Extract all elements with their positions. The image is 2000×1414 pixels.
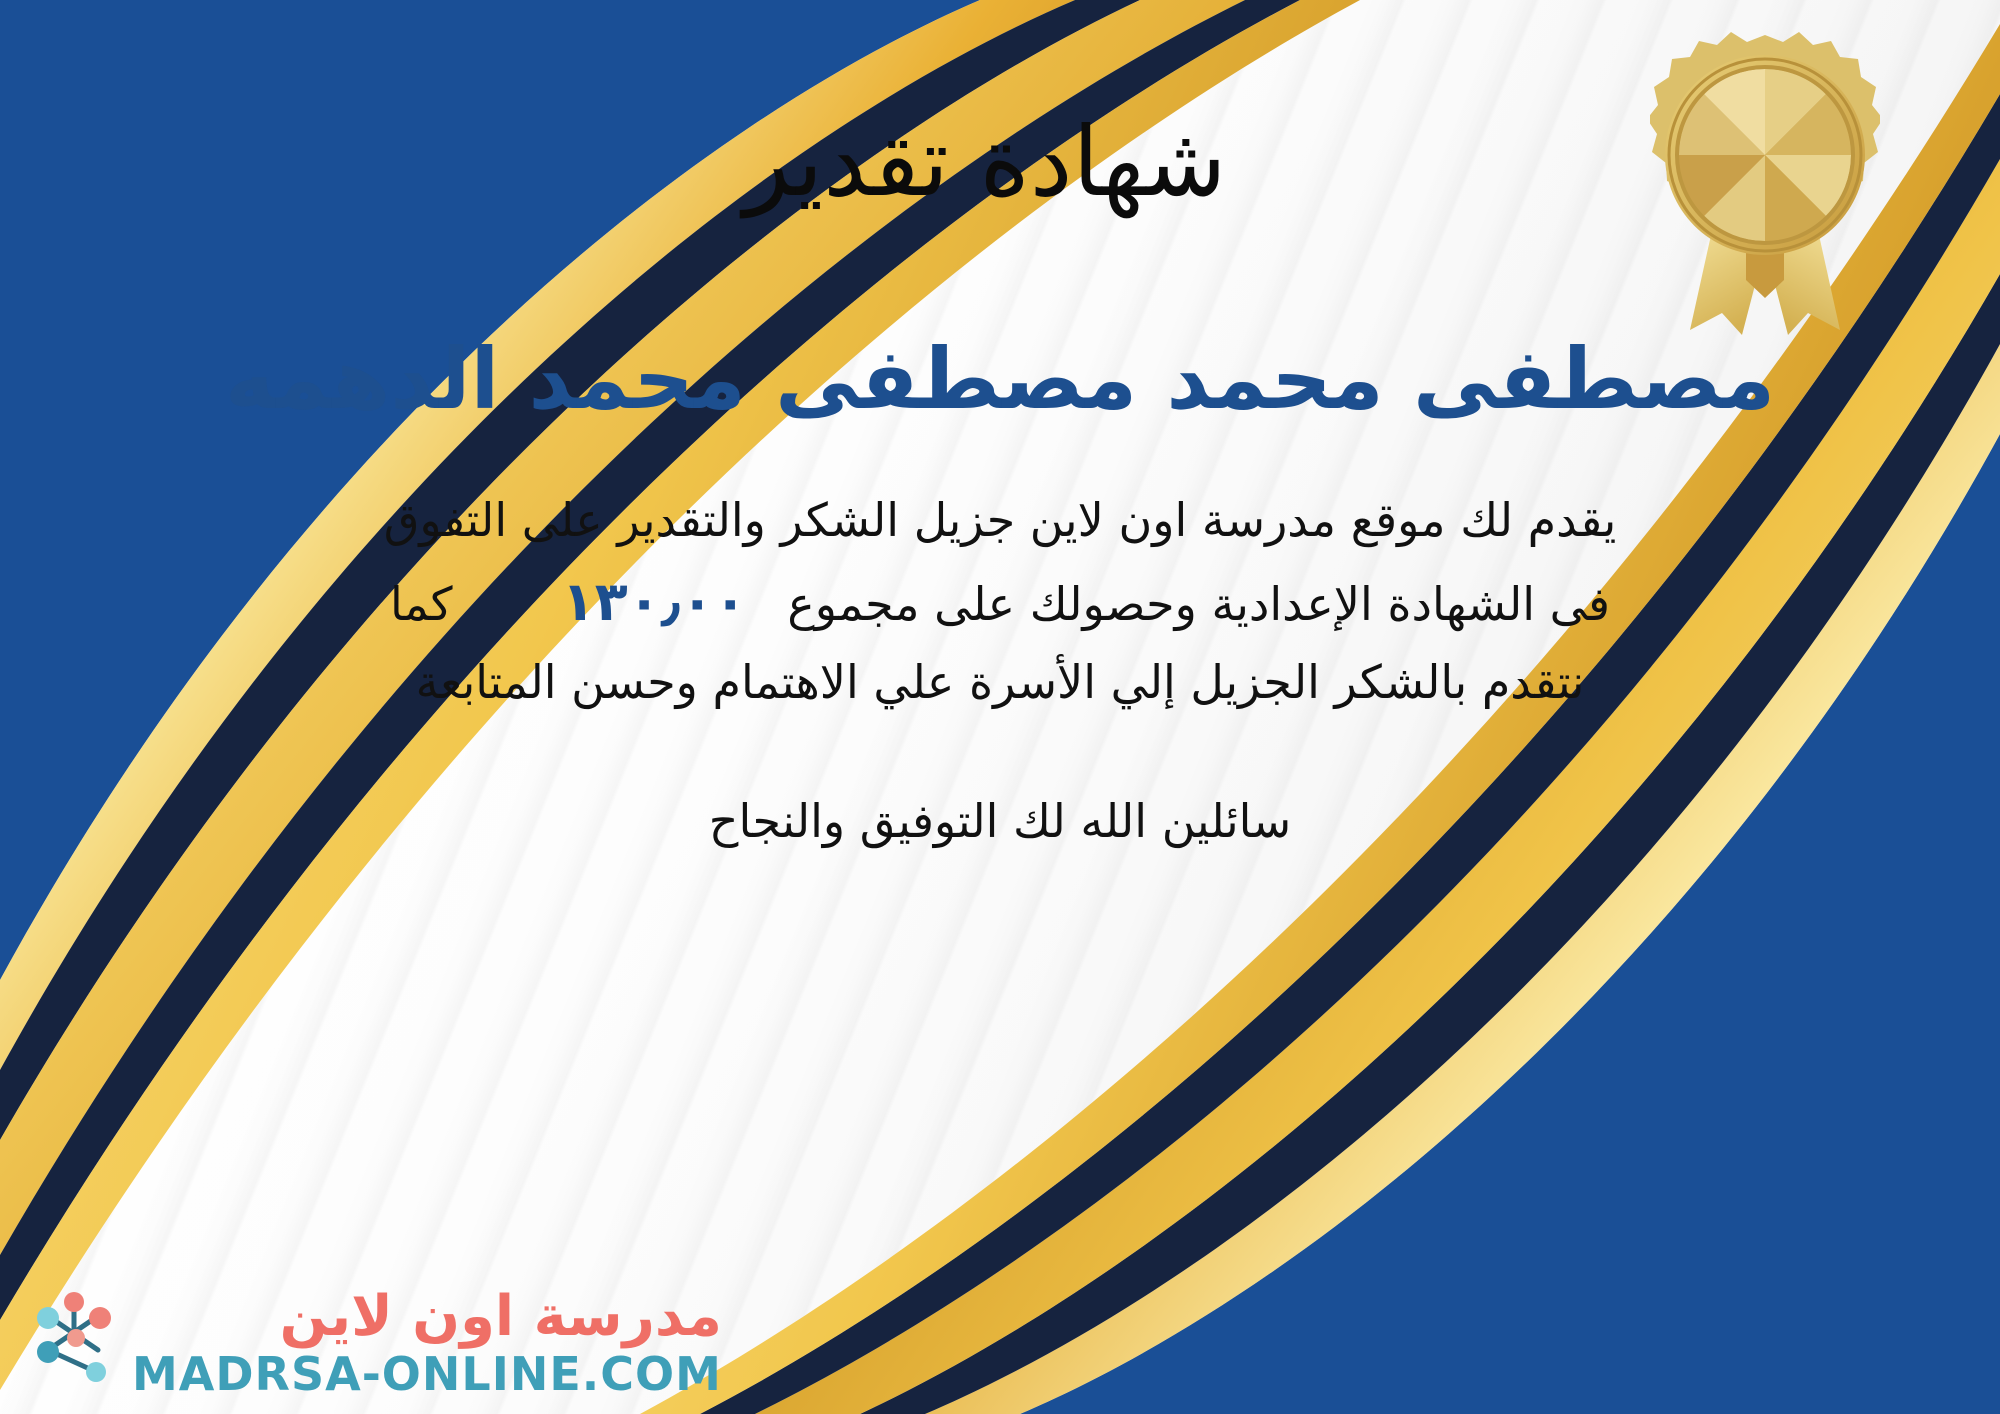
- network-nodes-icon: [26, 1288, 122, 1384]
- certificate-page: شهادة تقدير مصطفى محمد مصطفى محمد الدهمه…: [0, 0, 2000, 1414]
- logo-text-group: مدرسة اون لاين MADRSA-ONLINE.COM: [132, 1289, 722, 1397]
- body-line-1: يقدم لك موقع مدرسة اون لاين جزيل الشكر و…: [60, 483, 1940, 558]
- body-text: يقدم لك موقع مدرسة اون لاين جزيل الشكر و…: [60, 483, 1940, 720]
- site-logo[interactable]: مدرسة اون لاين MADRSA-ONLINE.COM: [26, 1288, 722, 1398]
- closing-text: سائلين الله لك التوفيق والنجاح: [100, 794, 1900, 848]
- body-line-3: نتقدم بالشكر الجزيل إلي الأسرة علي الاهت…: [60, 645, 1940, 720]
- logo-domain: MADRSA-ONLINE.COM: [132, 1351, 722, 1397]
- recipient-name: مصطفى محمد مصطفى محمد الدهمه: [40, 333, 1960, 425]
- body-line-2-prefix: فى الشهادة الإعدادية وحصولك على مجموع: [787, 577, 1610, 631]
- body-line-2: فى الشهادة الإعدادية وحصولك على مجموع ١٣…: [60, 558, 1940, 645]
- certificate-content: شهادة تقدير مصطفى محمد مصطفى محمد الدهمه…: [0, 0, 2000, 1414]
- logo-arabic-name: مدرسة اون لاين: [280, 1289, 722, 1345]
- page-title: شهادة تقدير: [0, 112, 2000, 213]
- score-value: ١٣٠٫٠٠: [536, 570, 773, 633]
- body-line-2-suffix: كما: [390, 577, 453, 631]
